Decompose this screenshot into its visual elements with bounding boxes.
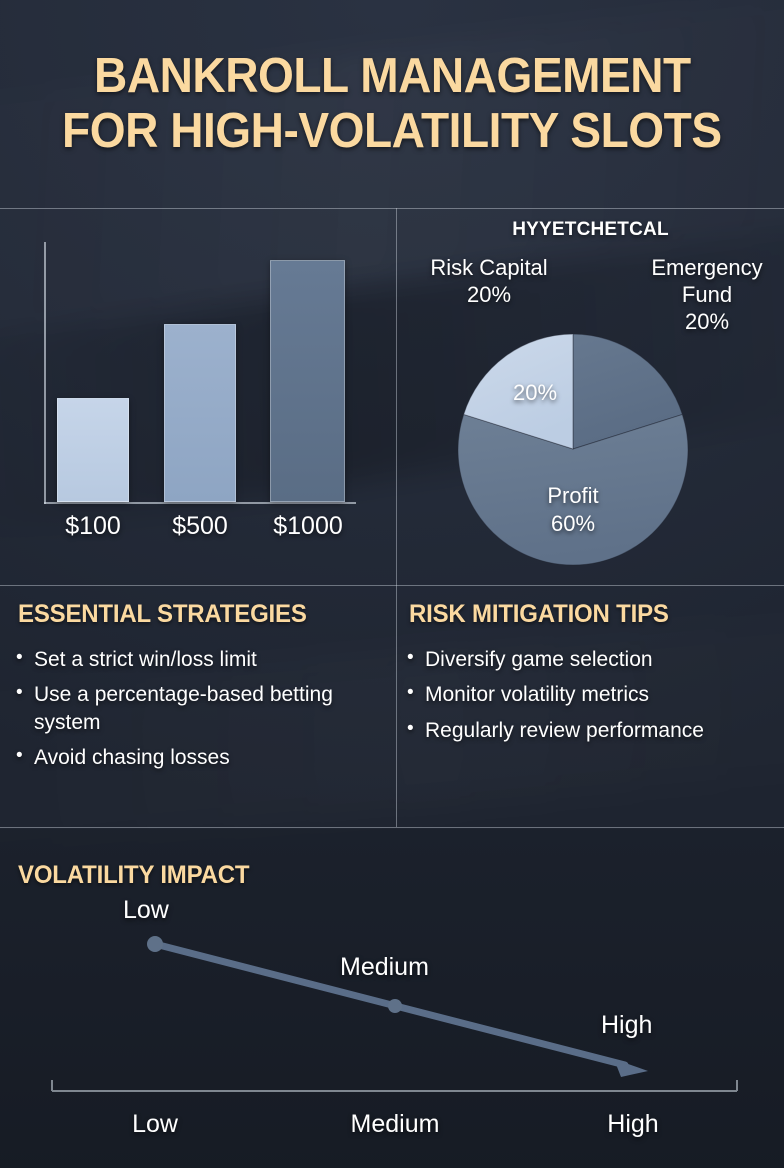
essential-strategies-heading: ESSENTIAL STRATEGIES xyxy=(18,600,307,629)
bar-label-1: $100 xyxy=(37,512,149,541)
risk-mitigation-list: • Diversify game selection • Monitor vol… xyxy=(407,646,782,752)
bullet-icon: • xyxy=(16,681,34,706)
divider-horizontal-top xyxy=(0,208,784,209)
list-item-label: Use a percentage-based betting system xyxy=(34,681,382,736)
list-item: • Diversify game selection xyxy=(407,646,782,673)
bullet-icon: • xyxy=(407,646,425,671)
bullet-icon: • xyxy=(16,744,34,769)
pie-chart-panel: HYYETCHETCAL Risk Capital 20% Emergency … xyxy=(397,209,784,585)
bar-column-2 xyxy=(164,324,236,502)
volatility-point-label-low: Low xyxy=(123,896,169,925)
pie-chart: 20% Profit 60% xyxy=(455,331,691,567)
volatility-x-axis xyxy=(52,1080,737,1091)
pie-callout-risk-capital: Risk Capital 20% xyxy=(405,255,573,309)
pie-slice-label-profit-name: Profit xyxy=(521,483,625,510)
list-item: • Monitor volatility metrics xyxy=(407,681,782,708)
volatility-impact-panel: VOLATILITY IMPACT Low Medium High Low Me… xyxy=(0,828,784,1168)
pie-slice-label-risk-capital: 20% xyxy=(491,380,579,407)
volatility-tick-label-medium: Medium xyxy=(335,1110,455,1139)
essential-strategies-panel: ESSENTIAL STRATEGIES • Set a strict win/… xyxy=(0,586,396,827)
bar-label-2: $500 xyxy=(144,512,256,541)
bar-column-3 xyxy=(270,260,345,502)
volatility-point-label-high: High xyxy=(601,1011,652,1040)
risk-mitigation-heading: RISK MITIGATION TIPS xyxy=(409,600,669,629)
pie-callout-emergency-fund-name: Emergency Fund xyxy=(632,255,782,309)
pie-callout-emergency-fund: Emergency Fund 20% xyxy=(632,255,782,335)
bar-chart-y-axis xyxy=(44,242,46,504)
bullet-icon: • xyxy=(16,646,34,671)
bar-label-3: $1000 xyxy=(250,512,366,541)
list-item-label: Regularly review performance xyxy=(425,717,782,744)
risk-mitigation-panel: RISK MITIGATION TIPS • Diversify game se… xyxy=(397,586,784,827)
volatility-tick-label-high: High xyxy=(573,1110,693,1139)
list-item: • Regularly review performance xyxy=(407,717,782,744)
volatility-point-medium xyxy=(388,999,402,1013)
volatility-point-low xyxy=(147,936,163,952)
header: BANKROLL MANAGEMENT FOR HIGH-VOLATILITY … xyxy=(0,0,784,208)
divider-vertical-center xyxy=(396,208,397,827)
bullet-icon: • xyxy=(407,681,425,706)
pie-callout-risk-capital-name: Risk Capital xyxy=(405,255,573,282)
infographic-canvas: BANKROLL MANAGEMENT FOR HIGH-VOLATILITY … xyxy=(0,0,784,1168)
page-title-line-2: FOR HIGH-VOLATILITY SLOTS xyxy=(62,104,722,159)
volatility-tick-label-low: Low xyxy=(95,1110,215,1139)
list-item-label: Monitor volatility metrics xyxy=(425,681,782,708)
pie-chart-title: HYYETCHETCAL xyxy=(397,219,784,241)
bar-chart-panel: $100 $500 $1000 xyxy=(0,209,396,585)
volatility-point-label-medium: Medium xyxy=(340,953,429,982)
divider-horizontal-bottom xyxy=(0,827,784,828)
page-title-line-1: BANKROLL MANAGEMENT xyxy=(94,49,691,104)
list-item: • Set a strict win/loss limit xyxy=(16,646,382,673)
list-item: • Use a percentage-based betting system xyxy=(16,681,382,736)
volatility-arrow-head xyxy=(614,1059,648,1077)
bar-column-1 xyxy=(57,398,129,502)
bar-chart-x-axis xyxy=(44,502,356,504)
bar-chart: $100 $500 $1000 xyxy=(0,209,396,585)
volatility-line-chart: Low Medium High Low Medium High xyxy=(0,828,784,1168)
list-item-label: Avoid chasing losses xyxy=(34,744,382,771)
divider-horizontal-middle xyxy=(0,585,784,586)
essential-strategies-list: • Set a strict win/loss limit • Use a pe… xyxy=(16,646,382,779)
bullet-icon: • xyxy=(407,717,425,742)
pie-slice-label-profit-value: 60% xyxy=(521,511,625,538)
list-item-label: Set a strict win/loss limit xyxy=(34,646,382,673)
list-item-label: Diversify game selection xyxy=(425,646,782,673)
pie-callout-risk-capital-value: 20% xyxy=(405,282,573,309)
list-item: • Avoid chasing losses xyxy=(16,744,382,771)
